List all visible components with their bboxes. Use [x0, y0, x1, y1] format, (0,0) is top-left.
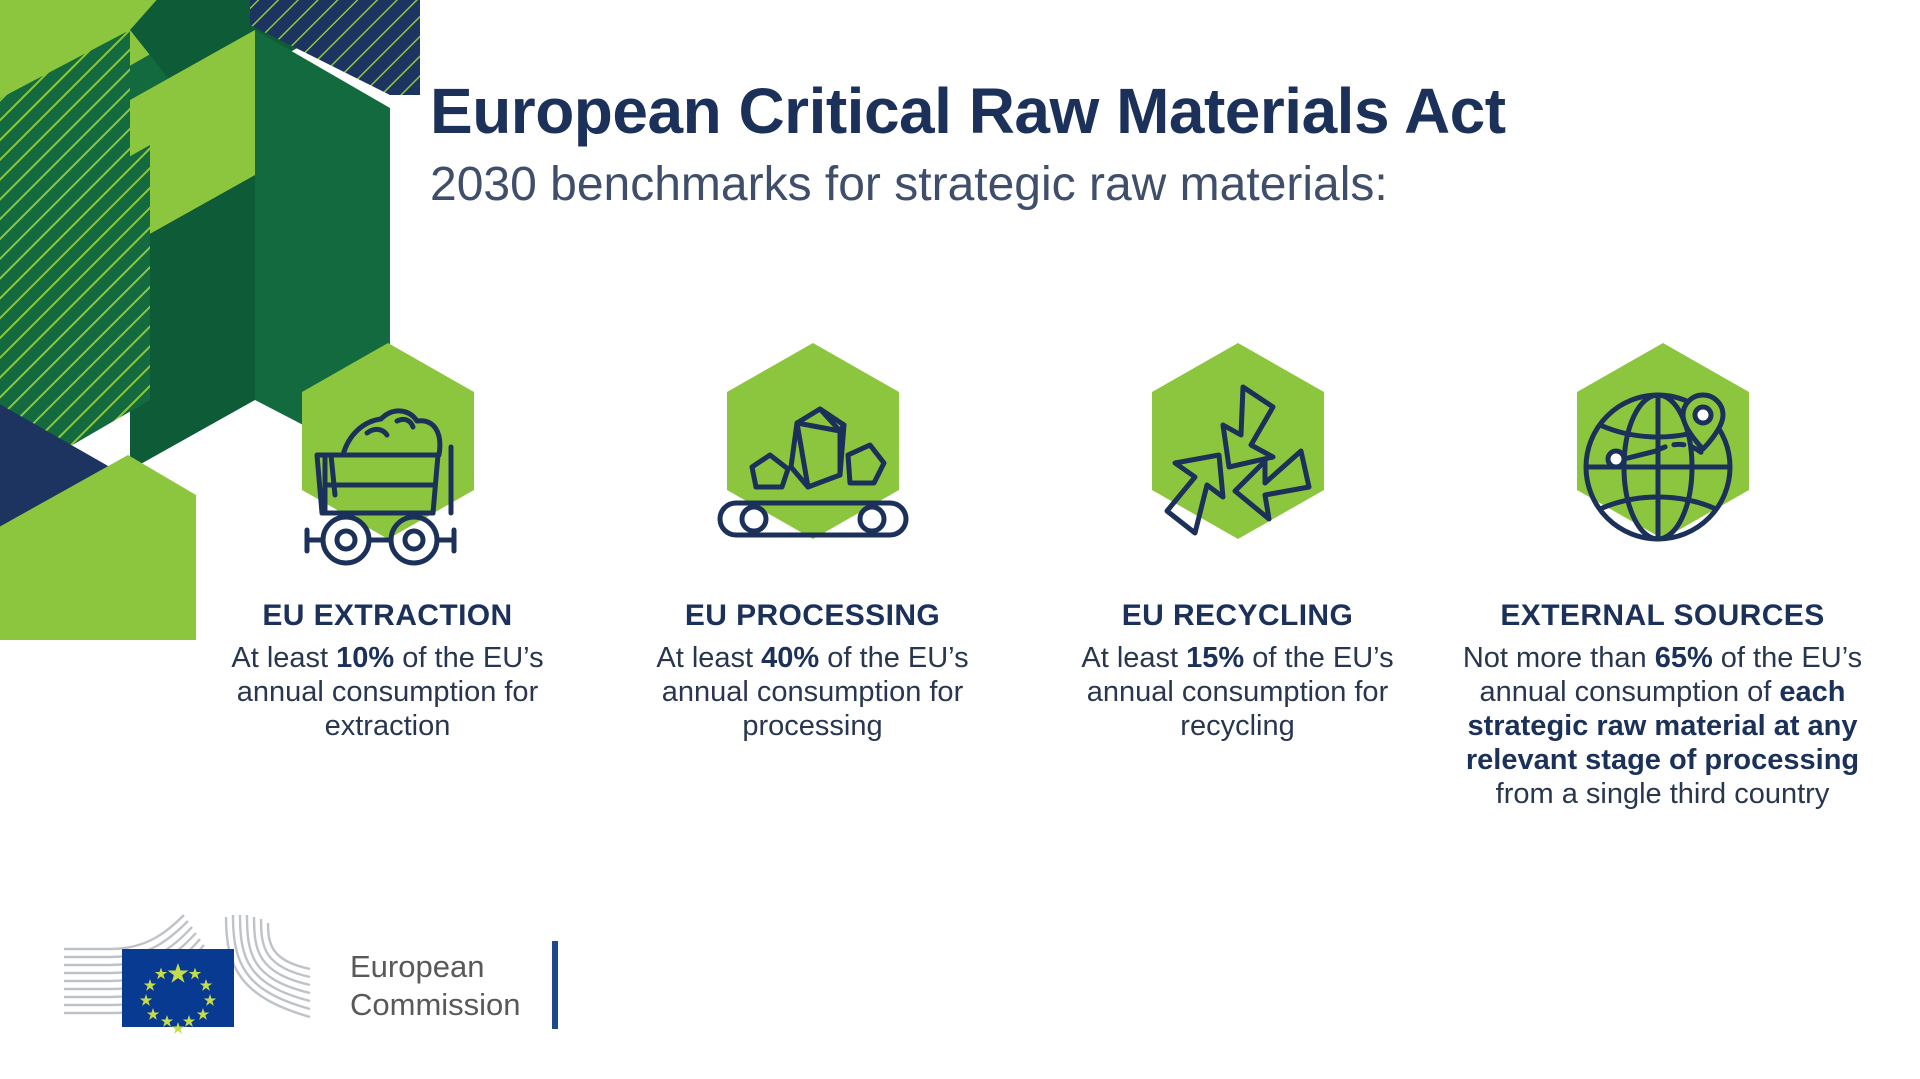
column-heading: EU RECYCLING — [1122, 599, 1354, 633]
logo-line-2: Commission — [350, 987, 521, 1022]
page-subtitle: 2030 benchmarks for strategic raw materi… — [430, 159, 1830, 212]
benchmark-column-extraction: EU EXTRACTION At least 10% of the EU’s a… — [175, 335, 600, 744]
globe-location-icon — [1548, 335, 1778, 585]
mine-cart-icon — [273, 335, 503, 585]
column-body: At least 40% of the EU’s annual consumpt… — [613, 642, 1013, 744]
european-commission-logo: European Commission — [62, 905, 582, 1035]
conveyor-minerals-icon — [698, 335, 928, 585]
column-body: At least 10% of the EU’s annual consumpt… — [188, 642, 588, 744]
title-block: European Critical Raw Materials Act 2030… — [430, 78, 1830, 212]
benchmark-column-external-sources: EXTERNAL SOURCES Not more than 65% of th… — [1450, 335, 1875, 812]
benchmark-column-processing: EU PROCESSING At least 40% of the EU’s a… — [600, 335, 1025, 744]
column-body: Not more than 65% of the EU’s annual con… — [1463, 642, 1863, 812]
benchmark-column-recycling: EU RECYCLING At least 15% of the EU’s an… — [1025, 335, 1450, 744]
recycling-icon — [1123, 335, 1353, 585]
logo-line-1: European — [350, 949, 484, 984]
benchmark-columns: EU EXTRACTION At least 10% of the EU’s a… — [175, 335, 1875, 812]
column-body: At least 15% of the EU’s annual consumpt… — [1038, 642, 1438, 744]
column-heading: EU PROCESSING — [685, 599, 940, 633]
column-heading: EXTERNAL SOURCES — [1500, 599, 1824, 633]
page-title: European Critical Raw Materials Act — [430, 78, 1830, 145]
column-heading: EU EXTRACTION — [262, 599, 512, 633]
